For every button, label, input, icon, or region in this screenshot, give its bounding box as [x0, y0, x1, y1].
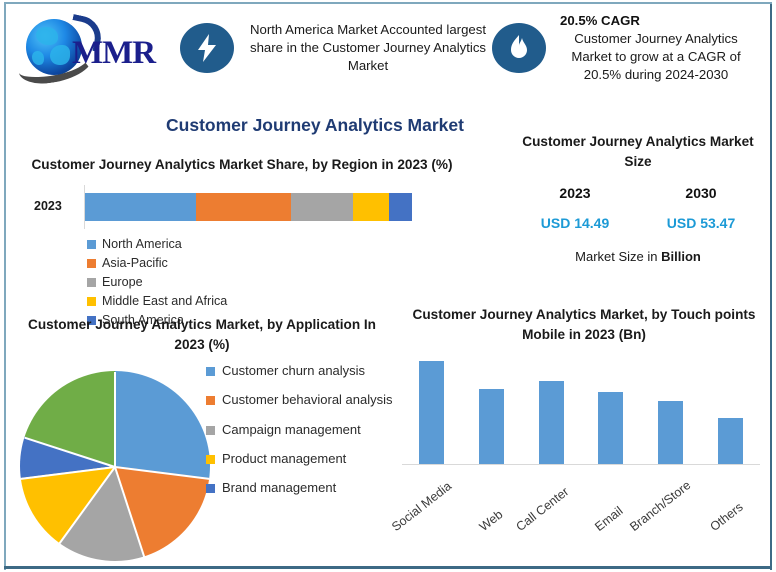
header-highlight-cagr: 20.5% CAGR Customer Journey Analytics Ma…	[492, 5, 756, 91]
touchpoints-bar-cell	[700, 357, 760, 464]
touchpoints-category-label: Others	[708, 500, 746, 534]
touchpoints-bar-cell	[402, 357, 462, 464]
application-legend-item: Customer behavioral analysis	[206, 392, 406, 408]
header-highlight-2-text: Customer Journey Analytics Market to gro…	[571, 31, 740, 82]
region-legend-label: Asia-Pacific	[102, 256, 168, 270]
brand-logo: MMR	[8, 5, 180, 91]
touchpoints-label-cell: Social Media	[402, 519, 462, 572]
region-segment	[85, 193, 196, 221]
region-legend-label: North America	[102, 237, 182, 251]
application-legend-label: Customer churn analysis	[222, 363, 365, 379]
region-chart-plot: 2023	[12, 185, 472, 231]
market-size-year-2030: 2030	[685, 185, 716, 201]
touchpoints-bar	[479, 389, 504, 464]
legend-swatch-icon	[87, 240, 96, 249]
header-bar: MMR North America Market Accounted large…	[8, 4, 768, 92]
touchpoints-bar-cell	[521, 357, 581, 464]
header-highlight-2-block: 20.5% CAGR Customer Journey Analytics Ma…	[556, 12, 756, 85]
region-legend-item: Europe	[87, 273, 282, 292]
region-legend-label: Europe	[102, 275, 143, 289]
touchpoints-axis-line	[402, 464, 760, 465]
region-legend-item: Asia-Pacific	[87, 254, 282, 273]
touchpoints-bar	[419, 361, 444, 464]
application-legend-item: Customer churn analysis	[206, 363, 406, 379]
region-segment	[196, 193, 291, 221]
region-segment	[291, 193, 353, 221]
infographic-canvas: MMR North America Market Accounted large…	[0, 0, 776, 572]
touchpoints-label-cell: Others	[700, 519, 760, 572]
touchpoints-bar	[539, 381, 564, 464]
cagr-headline: 20.5% CAGR	[560, 12, 756, 30]
touchpoints-plot-area: Social MediaWebCall CenterEmailBranch/St…	[402, 357, 766, 465]
region-legend-item: North America	[87, 235, 282, 254]
touchpoints-axis-labels: Social MediaWebCall CenterEmailBranch/St…	[402, 519, 760, 572]
application-legend-label: Customer behavioral analysis	[222, 392, 393, 408]
frame-border-left	[4, 2, 6, 570]
application-pie-plot	[20, 371, 210, 561]
touchpoints-category-label: Call Center	[514, 485, 572, 535]
touchpoints-bar	[658, 401, 683, 464]
region-legend-item: Middle East and Africa	[87, 292, 282, 311]
touchpoints-chart-title: Customer Journey Analytics Market, by To…	[408, 305, 760, 344]
frame-border-right	[770, 2, 772, 570]
market-size-value-2030: USD 53.47	[667, 215, 735, 231]
legend-swatch-icon	[87, 278, 96, 287]
market-size-unit-prefix: Market Size in	[575, 249, 661, 264]
region-legend-label: Middle East and Africa	[102, 294, 227, 308]
legend-swatch-icon	[87, 297, 96, 306]
application-legend-item: Campaign management	[206, 422, 406, 438]
application-chart-legend: Customer churn analysisCustomer behavior…	[206, 363, 406, 509]
touchpoints-bars	[402, 357, 760, 464]
touchpoints-bar	[598, 392, 623, 464]
touchpoints-bar	[718, 418, 743, 464]
header-highlight-1-text: North America Market Accounted largest s…	[244, 21, 492, 76]
region-stacked-bar	[85, 193, 412, 221]
market-size-value-2023: USD 14.49	[541, 215, 609, 231]
market-size-title: Customer Journey Analytics Market Size	[512, 132, 764, 173]
market-size-unit-note: Market Size in Billion	[512, 249, 764, 264]
region-segment	[353, 193, 389, 221]
market-size-unit: Billion	[661, 249, 701, 264]
touchpoints-category-label: Web	[476, 507, 505, 534]
region-share-chart: Customer Journey Analytics Market Share,…	[12, 155, 472, 330]
pie-slice-divider	[114, 372, 116, 467]
legend-swatch-icon	[206, 426, 215, 435]
header-highlight-north-america: North America Market Accounted largest s…	[180, 5, 492, 91]
application-chart-title: Customer Journey Analytics Market, by Ap…	[14, 315, 390, 354]
touchpoints-category-label: Branch/Store	[627, 478, 693, 534]
application-legend-label: Campaign management	[222, 422, 361, 438]
region-segment	[389, 193, 412, 221]
legend-swatch-icon	[206, 396, 215, 405]
flame-icon	[492, 23, 546, 73]
market-size-panel: Customer Journey Analytics Market Size 2…	[512, 132, 764, 264]
application-share-chart: Customer Journey Analytics Market, by Ap…	[6, 315, 406, 354]
touchpoints-category-label: Social Media	[389, 479, 454, 534]
market-size-values: USD 14.49 USD 53.47	[512, 215, 764, 231]
region-chart-title: Customer Journey Analytics Market Share,…	[22, 155, 462, 175]
application-legend-item: Brand management	[206, 480, 406, 496]
touchpoints-bar-cell	[462, 357, 522, 464]
touchpoints-chart: Customer Journey Analytics Market, by To…	[398, 305, 770, 567]
legend-swatch-icon	[206, 455, 215, 464]
lightning-bolt-icon	[180, 23, 234, 73]
touchpoints-category-label: Email	[592, 504, 625, 534]
touchpoints-label-cell: Branch/Store	[641, 519, 701, 572]
application-legend-label: Brand management	[222, 480, 336, 496]
touchpoints-bar-cell	[581, 357, 641, 464]
region-category-label: 2023	[34, 199, 62, 213]
touchpoints-label-cell: Web	[462, 519, 522, 572]
legend-swatch-icon	[87, 259, 96, 268]
market-size-year-2023: 2023	[559, 185, 590, 201]
touchpoints-bar-cell	[641, 357, 701, 464]
touchpoints-label-cell: Call Center	[521, 519, 581, 572]
brand-logo-text: MMR	[72, 35, 155, 72]
market-size-years: 2023 2030	[512, 185, 764, 201]
application-legend-label: Product management	[222, 451, 346, 467]
legend-swatch-icon	[206, 367, 215, 376]
legend-swatch-icon	[206, 484, 215, 493]
application-legend-item: Product management	[206, 451, 406, 467]
